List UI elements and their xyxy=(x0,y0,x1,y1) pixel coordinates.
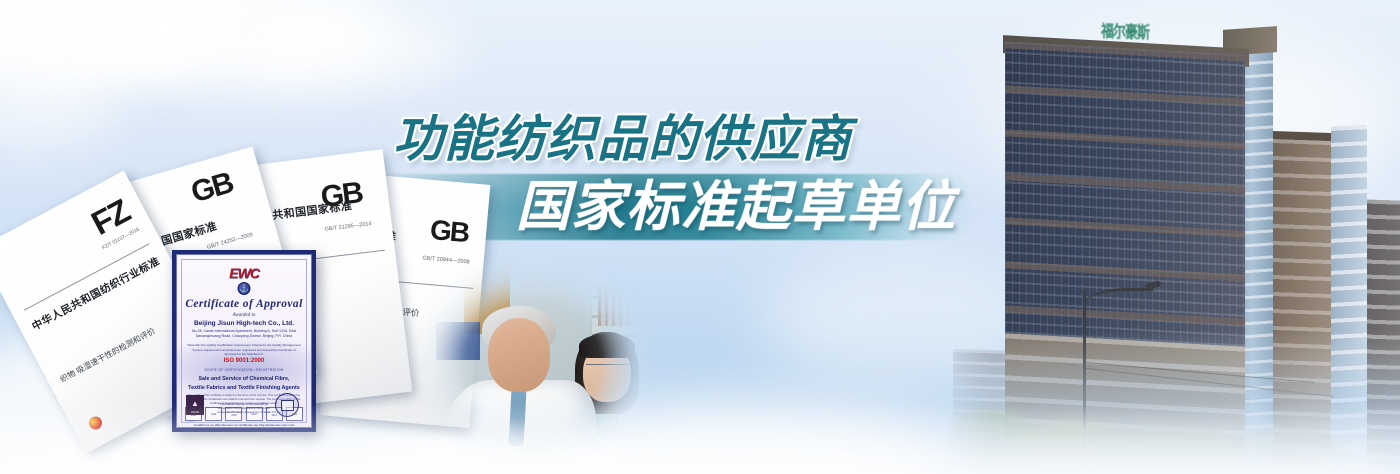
headline-line-1: 功能纺织品的供应商 xyxy=(393,114,852,164)
headline-group: 功能纺织品的供应商 国家标准起草单位 xyxy=(0,0,1400,474)
headline-line-2: 国家标准起草单位 xyxy=(516,180,956,234)
promotional-banner: 福尔豪斯 GB 国国家标准 GB/T 20944—2008 检测和评价 GB 华… xyxy=(0,0,1400,474)
bottom-haze-overlay xyxy=(0,404,1400,474)
